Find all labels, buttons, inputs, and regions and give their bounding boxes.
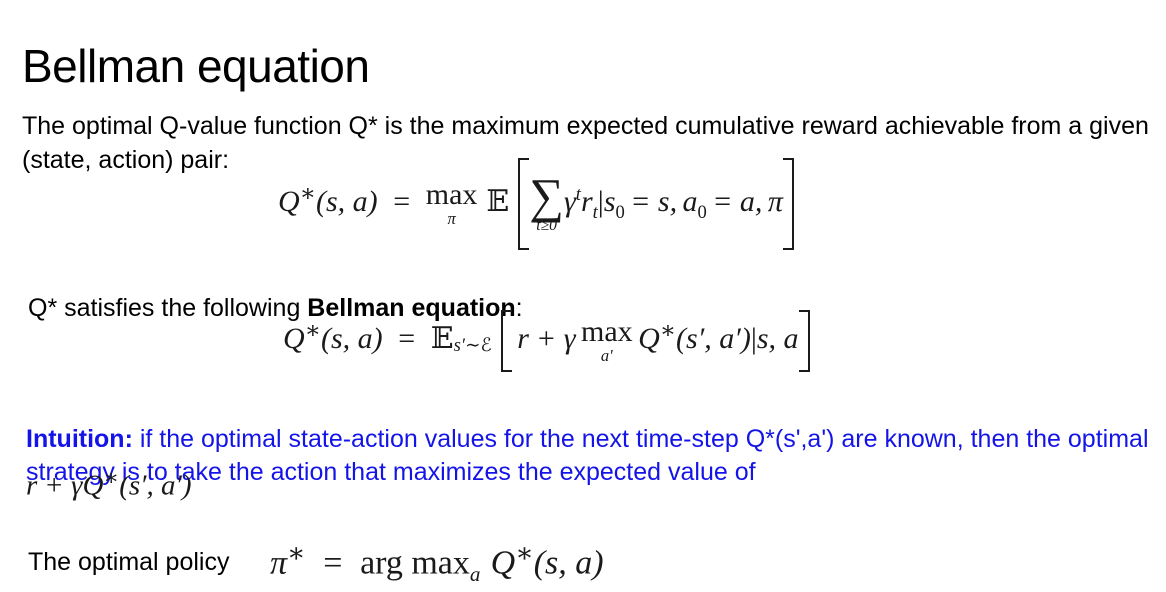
eq4-pi-star: ∗: [287, 538, 305, 568]
optimal-policy-label: The optimal policy: [28, 546, 229, 578]
eq2-q-next-star: ∗: [660, 318, 676, 344]
eq1-q-args: (s, a): [316, 185, 378, 218]
eq1-a0-sub: 0: [698, 202, 707, 223]
eq4-q-args: (s, a): [534, 544, 604, 581]
eq1-summation: ∑t≥0: [529, 175, 564, 233]
eq3-q-symbol: Q: [82, 470, 103, 502]
eq3-q-star: ∗: [103, 465, 119, 491]
eq2-left-bracket: [501, 310, 512, 372]
eq1-a0: a: [683, 185, 698, 218]
eq4-argmax-sub: a: [470, 562, 481, 586]
eq1-max-label: max: [426, 180, 478, 210]
eq1-eq-s: = s,: [630, 185, 677, 218]
equation-bellman: Q∗(s, a)=𝔼s′∼ℰr+γmaxa′Q∗(s′, a′)|s, a: [283, 310, 810, 372]
eq2-max-limit: a′: [581, 348, 633, 365]
equation-expected-value-inline: r+γQ∗(s′, a′): [26, 464, 191, 503]
eq2-plus: +: [538, 322, 555, 355]
eq2-q-next: Q: [638, 322, 660, 355]
eq3-reward: r: [26, 470, 37, 502]
page-title: Bellman equation: [22, 39, 369, 93]
eq1-max-operator: maxπ: [426, 180, 478, 228]
intuition-text: if the optimal state-action values for t…: [26, 425, 1149, 486]
eq2-max-label: max: [581, 317, 633, 347]
eq2-q-symbol: Q: [283, 322, 305, 355]
intuition-paragraph: Intuition: if the optimal state-action v…: [26, 423, 1161, 489]
eq1-s0-sub: 0: [616, 202, 625, 223]
satisfies-prefix: Q* satisfies the following: [28, 294, 307, 322]
eq4-pi: π: [270, 544, 287, 581]
eq2-equals: =: [398, 322, 415, 355]
equation-optimal-policy: π∗=arg maxaQ∗(s, a): [270, 538, 604, 587]
eq4-equals: =: [323, 544, 342, 581]
eq2-max-operator: maxa′: [581, 317, 633, 365]
slide-canvas: Bellman equation The optimal Q-value fun…: [0, 0, 1166, 592]
eq2-exp-sub-state: s′: [454, 335, 465, 356]
eq1-sigma-symbol: ∑: [529, 175, 564, 218]
eq4-q-star: ∗: [515, 538, 533, 568]
intuition-label: Intuition:: [26, 425, 133, 453]
eq1-s0: s: [604, 185, 616, 218]
eq1-policy-pi: π: [768, 185, 783, 218]
eq1-reward: r: [581, 185, 593, 218]
eq3-gamma: γ: [71, 470, 82, 502]
eq2-right-bracket: [799, 310, 810, 372]
eq2-q-star: ∗: [305, 318, 321, 344]
eq2-q-args: (s, a): [321, 322, 383, 355]
eq2-exp-sub-sim: ∼: [465, 335, 481, 356]
eq1-q-symbol: Q: [278, 185, 300, 218]
eq3-plus: +: [46, 470, 62, 502]
eq2-gamma: γ: [564, 322, 576, 355]
eq1-equals: =: [393, 185, 410, 218]
eq2-exp-sub-env: ℰ: [481, 335, 492, 356]
eq1-eq-a: = a,: [712, 185, 762, 218]
eq2-reward: r: [517, 322, 529, 355]
eq1-gamma: γ: [564, 185, 576, 218]
eq1-right-bracket: [783, 158, 794, 250]
eq1-max-limit: π: [426, 211, 478, 228]
eq1-left-bracket: [518, 158, 529, 250]
equation-q-star-expectation: Q∗(s, a)=maxπ𝔼∑t≥0γtrt|s0= s,a0= a,π: [278, 158, 794, 250]
eq4-q-symbol: Q: [491, 544, 516, 581]
eq3-q-args: (s′, a′): [119, 470, 191, 502]
eq2-expectation-symbol: 𝔼: [431, 321, 454, 356]
eq1-q-star: ∗: [300, 181, 316, 207]
eq2-q-next-args: (s′, a′): [676, 322, 751, 355]
eq2-condition: s, a: [757, 322, 799, 355]
eq1-expectation-symbol: 𝔼: [486, 184, 509, 219]
eq4-argmax: arg max: [360, 544, 470, 581]
